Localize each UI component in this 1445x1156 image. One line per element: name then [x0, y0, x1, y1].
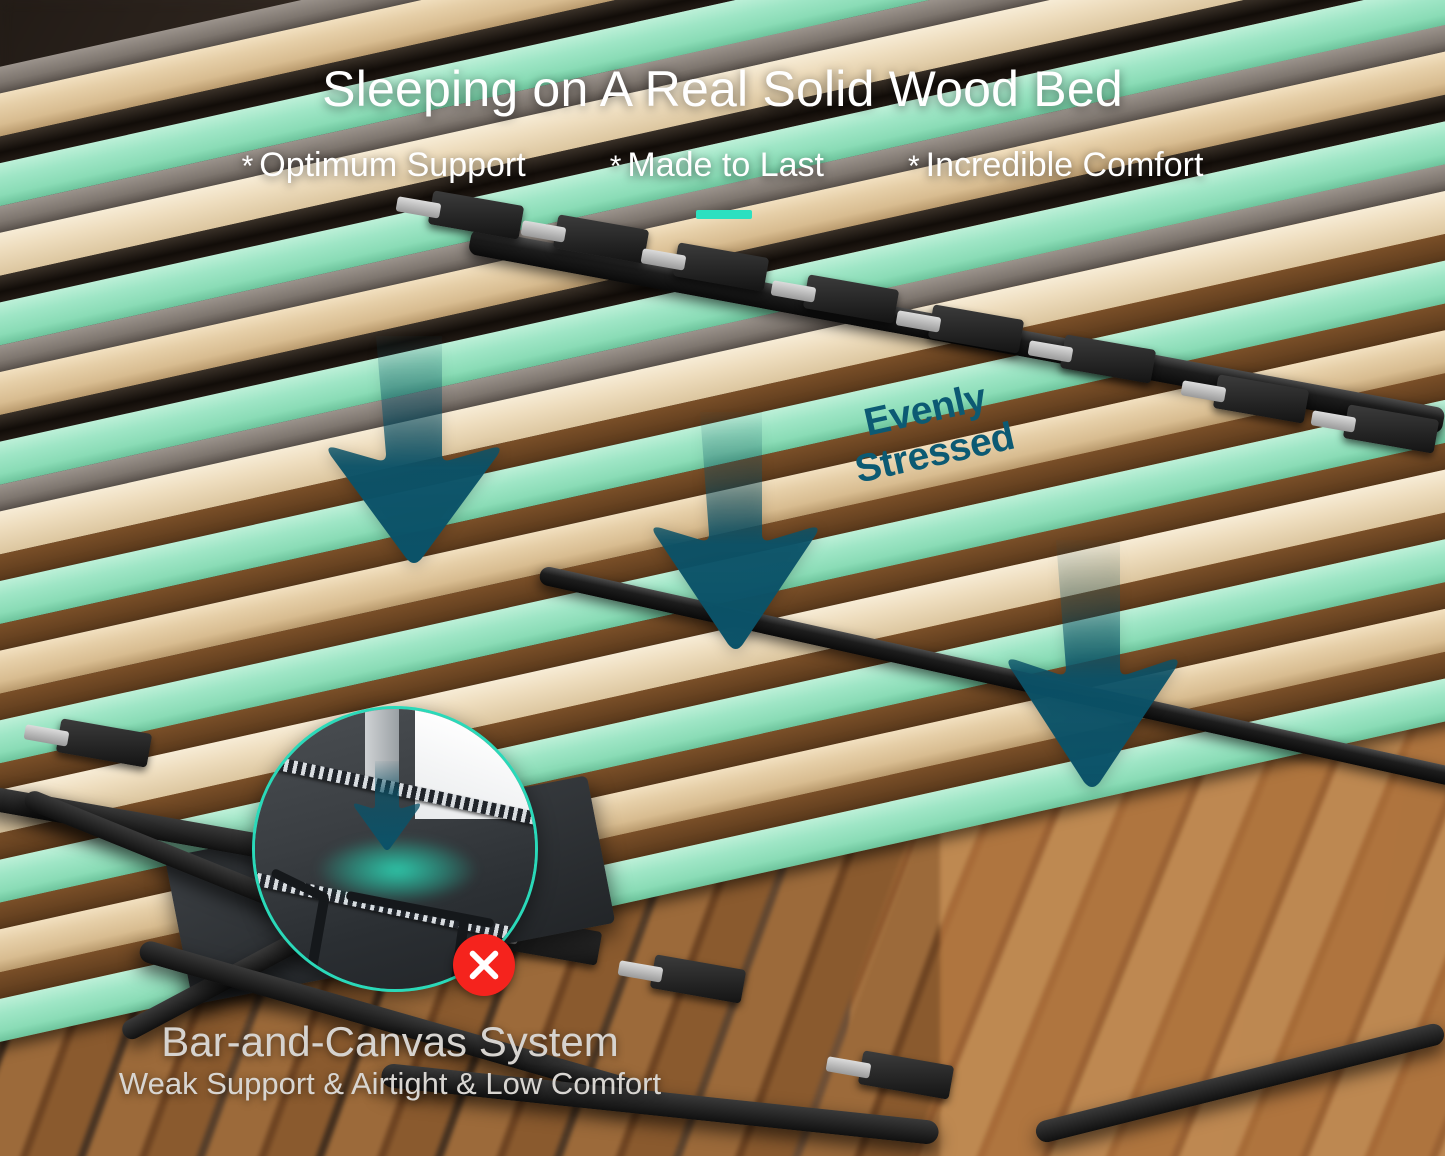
feature-bullet-label: Made to Last [627, 146, 824, 184]
pressure-arrow-center [648, 412, 838, 652]
feature-bullet-optimum-support: *Optimum Support [242, 146, 526, 185]
inset-pressure-arrow [353, 761, 423, 853]
comparison-title: Bar-and-Canvas System [0, 1018, 780, 1066]
feature-bullet-made-to-last: *Made to Last [610, 146, 824, 185]
feature-bullet-label: Optimum Support [259, 146, 525, 184]
x-badge [453, 934, 515, 996]
accent-underline [696, 210, 752, 219]
feature-bullet-incredible-comfort: *Incredible Comfort [908, 146, 1203, 185]
asterisk-icon: * [610, 150, 622, 183]
asterisk-icon: * [242, 150, 254, 183]
asterisk-icon: * [908, 150, 920, 183]
feature-bullet-label: Incredible Comfort [926, 146, 1204, 184]
product-feature-image: Sleeping on A Real Solid Wood Bed *Optim… [0, 0, 1445, 1156]
comparison-subtitle: Weak Support & Airtight & Low Comfort [0, 1066, 780, 1102]
feature-bullets: *Optimum Support *Made to Last *Incredib… [0, 146, 1445, 185]
pressure-arrow-left [318, 336, 518, 566]
pressure-arrow-right [1000, 540, 1200, 790]
page-title: Sleeping on A Real Solid Wood Bed [0, 60, 1445, 118]
